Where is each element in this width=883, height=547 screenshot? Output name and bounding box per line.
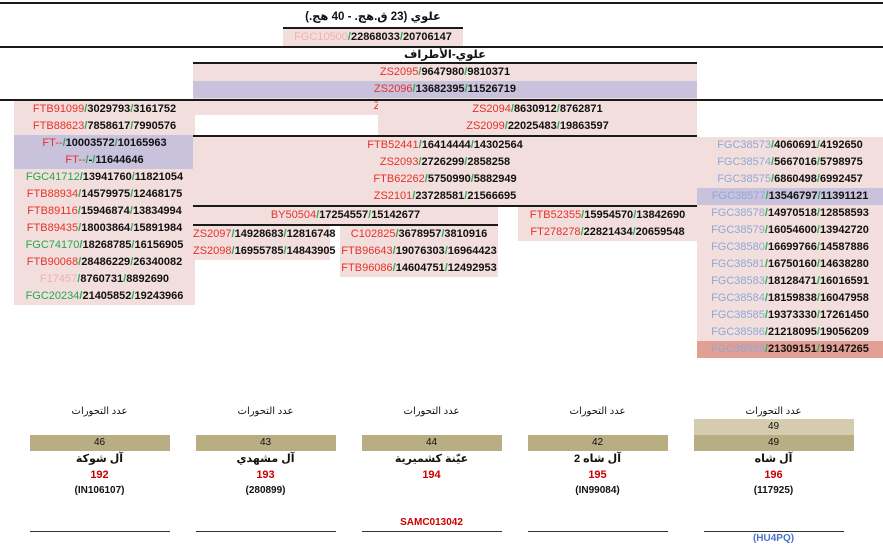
position-hg19: 21566695 — [467, 190, 516, 202]
snp-name: FGC20234 — [26, 290, 80, 302]
mutation-count-label: عدد التحورات — [690, 405, 857, 419]
snp-row: ZS2097/14928683/12816748 — [193, 226, 330, 243]
snp-name: FT278278 — [530, 226, 580, 238]
snp-row: FTB96643/19076303/16964423 — [340, 243, 498, 260]
snp-name: ZS2099 — [466, 120, 505, 132]
snp-row: FT278278/22821434/20659548 — [518, 224, 697, 241]
snp-name: FGC10500 — [294, 31, 348, 43]
position-hg38: 22821434 — [584, 226, 633, 238]
mutation-count-label: عدد التحورات — [16, 405, 183, 419]
leaf-bottom-rule — [704, 531, 844, 532]
snp-row: FGC38585/19373330/17261450 — [697, 307, 883, 324]
snp-name: ZS2094 — [472, 103, 511, 115]
root-header-label: علوي (23 ق.هج. - 40 هج.) — [283, 10, 463, 25]
snp-row: FGC38578/14970518/12858593 — [697, 205, 883, 222]
snp-name: FGC38585 — [711, 309, 765, 321]
snp-row: BY50504/17254557/15142677 — [193, 207, 498, 224]
snp-row: FGC38584/18159838/16047958 — [697, 290, 883, 307]
snp-row: F17457/8760731/8892690 — [14, 271, 195, 288]
snp-row: FGC38581/16750160/14638280 — [697, 256, 883, 273]
mutation-count-bars: 42 — [528, 435, 668, 451]
snp-row: FTB89435/18003864/15891984 — [14, 220, 195, 237]
leaf-spacer — [182, 499, 349, 515]
position-hg19: 10165963 — [118, 137, 167, 149]
snp-row: ZS2094/8630912/8762871 — [378, 101, 697, 118]
snp-name: FGC38575 — [717, 173, 771, 185]
snp-name: ZS2097 — [193, 228, 232, 240]
position-hg38: 8760731 — [80, 273, 123, 285]
snp-row: ZS2093/2726299/2858258 — [193, 154, 697, 171]
snp-name: FGC38584 — [711, 292, 765, 304]
position-hg19: 19147265 — [820, 343, 869, 355]
snp-name: ZS2093 — [380, 156, 419, 168]
mutation-count-bars: 44 — [362, 435, 502, 451]
position-hg38: 14970518 — [768, 207, 817, 219]
mutation-count-bar: 44 — [362, 435, 502, 451]
leaf-column[interactable]: عدد التحورات42آل شاه 2195(IN99084) — [514, 405, 681, 547]
position-hg38: 6860498 — [774, 173, 817, 185]
extra-sample-id — [514, 515, 681, 531]
position-hg38: 18159838 — [768, 292, 817, 304]
position-hg19: 11821054 — [135, 171, 183, 183]
position-hg19: 26340082 — [133, 256, 182, 268]
kit-id — [348, 483, 515, 499]
position-hg38: 18268785 — [82, 239, 131, 251]
position-hg19: 12468175 — [133, 188, 182, 200]
leaf-bottom-rule — [528, 531, 668, 532]
extra-kit-id — [348, 531, 515, 547]
mutation-count-bars: 46 — [30, 435, 170, 451]
snp-name: FTB88623 — [33, 120, 84, 132]
leaf-column[interactable]: عدد التحورات46آل شوكة192(IN106107) — [16, 405, 183, 547]
snp-name: FGC38586 — [711, 326, 765, 338]
position-hg19: 20706147 — [403, 31, 452, 43]
position-hg19: 14302564 — [474, 139, 523, 151]
mutation-count-bar: 49 — [694, 435, 854, 451]
position-hg19: 7990576 — [133, 120, 176, 132]
phylogenetic-tree-diagram: علوي (23 ق.هج. - 40 هج.) FGC10500/228680… — [0, 0, 883, 539]
snp-name: FTB90068 — [27, 256, 78, 268]
mutation-count-bars: 4949 — [694, 419, 854, 451]
position-hg38: 21309151 — [768, 343, 817, 355]
bar-spacer — [514, 419, 681, 435]
mid-upper-snp-list: ZS2094/8630912/8762871ZS2099/22025483/19… — [378, 101, 697, 135]
position-hg38: 18128471 — [768, 275, 817, 287]
kit-id: (IN99084) — [514, 483, 681, 499]
position-hg38: 19076303 — [396, 245, 445, 257]
bar-spacer — [348, 419, 515, 435]
snp-name: FGC38583 — [711, 275, 765, 287]
snp-row: ZS2095/9647980/9810371 — [193, 64, 697, 81]
extra-kit-id — [514, 531, 681, 547]
snp-row: FT--/10003572/10165963 — [14, 135, 195, 152]
position-hg19: 3161752 — [133, 103, 176, 115]
snp-row: ZS2096/13682395/11526719 — [193, 81, 697, 98]
family-name: عيّنة كشميرية — [348, 451, 515, 467]
position-hg38: 14604751 — [396, 262, 445, 274]
family-name: آل شاه — [690, 451, 857, 467]
sample-number: 192 — [16, 467, 183, 483]
mutation-count-bar: 46 — [30, 435, 170, 451]
bar-spacer — [182, 419, 349, 435]
mutation-count-bar: 42 — [528, 435, 668, 451]
snp-row: FGC10500/22868033/20706147 — [283, 29, 463, 46]
extra-kit-id — [182, 531, 349, 547]
snp-row: FTB91099/3029793/3161752 — [14, 101, 195, 118]
position-hg19: 17261450 — [820, 309, 869, 321]
position-hg19: 13942720 — [820, 224, 869, 236]
position-hg19: 15142677 — [371, 209, 420, 221]
position-hg19: 11644646 — [95, 154, 143, 166]
snp-name: FGC41712 — [26, 171, 80, 183]
snp-name: C102825 — [351, 228, 396, 240]
extra-sample-id — [16, 515, 183, 531]
position-hg38: 14928683 — [235, 228, 284, 240]
snp-name: FTB91099 — [33, 103, 84, 115]
snp-name: FTB96643 — [341, 245, 392, 257]
snp-name: FTB96086 — [341, 262, 392, 274]
position-hg38: 9647980 — [421, 66, 464, 78]
branch-header-label: علوي-الأطراف — [193, 48, 697, 62]
snp-row: FTB52355/15954570/13842690 — [518, 207, 697, 224]
position-hg19: 11391121 — [821, 190, 869, 202]
snp-name: FGC38589 — [711, 343, 765, 355]
leaf-spacer — [690, 499, 857, 515]
position-hg19: 20659548 — [636, 226, 685, 238]
extra-sample-id — [182, 515, 349, 531]
position-hg19: 5882949 — [474, 173, 517, 185]
snp-name: FGC38580 — [711, 241, 765, 253]
position-hg38: 18003864 — [81, 222, 130, 234]
position-hg19: 15891984 — [133, 222, 182, 234]
right-branch-snp-list: FGC38573/4060691/4192650FGC38574/5667016… — [697, 137, 883, 358]
snp-name: FTB52355 — [530, 209, 581, 221]
position-hg19: 16964423 — [448, 245, 497, 257]
snp-name: FGC38578 — [711, 207, 765, 219]
position-hg19: 16047958 — [820, 292, 869, 304]
bar-spacer — [16, 419, 183, 435]
mutation-count-label: عدد التحورات — [182, 405, 349, 419]
by50504-snp-list: BY50504/17254557/15142677 — [193, 207, 498, 224]
position-hg38: 14579975 — [81, 188, 130, 200]
snp-name: FTB89116 — [27, 205, 78, 217]
position-hg38: 5750990 — [428, 173, 471, 185]
sample-number: 196 — [690, 467, 857, 483]
snp-name: FGC38574 — [717, 156, 771, 168]
snp-row: FT--/-/11644646 — [14, 152, 195, 169]
kit-id: (IN106107) — [16, 483, 183, 499]
snp-row: FGC74170/18268785/16156905 — [14, 237, 195, 254]
mid-right-sub-snp-list: C102825/3678957/3810916FTB96643/19076303… — [340, 226, 498, 277]
position-hg38: 21405852 — [82, 290, 131, 302]
mutation-count-label: عدد التحورات — [514, 405, 681, 419]
snp-row: FGC38579/16054600/13942720 — [697, 222, 883, 239]
position-hg19: 9810371 — [467, 66, 510, 78]
snp-name: FGC74170 — [26, 239, 80, 251]
snp-row: FGC38573/4060691/4192650 — [697, 137, 883, 154]
leaf-spacer — [16, 499, 183, 515]
position-hg38: 5667016 — [774, 156, 817, 168]
leaf-column[interactable]: عدد التحورات43آل مشهدي193(280899) — [182, 405, 349, 547]
snp-row: FGC38586/21218095/19056209 — [697, 324, 883, 341]
snp-name: FGC38573 — [717, 139, 771, 151]
position-hg19: 19863597 — [560, 120, 609, 132]
snp-name: FTB89435 — [27, 222, 78, 234]
leaf-column[interactable]: عدد التحورات4949آل شاه196(117925)(HU4PQ) — [690, 405, 857, 547]
snp-row: FGC38574/5667016/5798975 — [697, 154, 883, 171]
snp-row: FTB52441/16414444/14302564 — [193, 137, 697, 154]
snp-row: FGC38577/13546797/11391121 — [697, 188, 883, 205]
position-hg38: 19373330 — [768, 309, 817, 321]
position-hg38: 22868033 — [351, 31, 400, 43]
snp-row: FTB89116/15946874/13834994 — [14, 203, 195, 220]
position-hg38: 13546797 — [769, 190, 818, 202]
position-hg19: 4192650 — [820, 139, 863, 151]
position-hg19: 19243966 — [134, 290, 183, 302]
extra-sample-id: SAMC013042 — [348, 515, 515, 531]
snp-row: FGC38583/18128471/16016591 — [697, 273, 883, 290]
position-hg38: 2726299 — [421, 156, 464, 168]
snp-row: FTB90068/28486229/26340082 — [14, 254, 195, 271]
position-hg38: 21218095 — [768, 326, 817, 338]
top-rule — [0, 2, 883, 4]
mutation-count-label: عدد التحورات — [348, 405, 515, 419]
position-hg38: 3029793 — [87, 103, 130, 115]
position-hg38: 23728581 — [415, 190, 464, 202]
left-branch-snp-list: FTB91099/3029793/3161752FTB88623/7858617… — [14, 101, 195, 305]
position-hg38: 7858617 — [87, 120, 130, 132]
leaf-spacer — [514, 499, 681, 515]
position-hg38: 17254557 — [319, 209, 368, 221]
snp-row: FGC38580/16699766/14587886 — [697, 239, 883, 256]
position-hg19: 16016591 — [820, 275, 869, 287]
position-hg19: 16156905 — [134, 239, 183, 251]
snp-name: FGC38581 — [711, 258, 765, 270]
snp-row: FGC20234/21405852/19243966 — [14, 288, 195, 305]
position-hg38: 10003572 — [66, 137, 115, 149]
mid-main-snp-list: FTB52441/16414444/14302564ZS2093/2726299… — [193, 137, 697, 205]
position-hg19: 8762871 — [560, 103, 603, 115]
kit-id: (117925) — [690, 483, 857, 499]
snp-name: FGC38579 — [711, 224, 765, 236]
snp-name: ZS2096 — [374, 83, 413, 95]
snp-row: FTB88623/7858617/7990576 — [14, 118, 195, 135]
snp-name: FTB62262 — [373, 173, 424, 185]
leaf-bottom-rule — [30, 531, 170, 532]
position-hg19: 8892690 — [126, 273, 169, 285]
position-hg38: 15946874 — [81, 205, 130, 217]
far-mid-snp-list: FTB52355/15954570/13842690FT278278/22821… — [518, 207, 697, 241]
position-hg38: 22025483 — [508, 120, 557, 132]
position-hg19: 14843905 — [287, 245, 336, 257]
extra-kit-id — [16, 531, 183, 547]
position-hg38: 13941760 — [83, 171, 132, 183]
snp-name: ZS2095 — [380, 66, 419, 78]
leaf-bottom-rule — [362, 531, 502, 532]
sample-number: 193 — [182, 467, 349, 483]
position-hg19: 14587886 — [820, 241, 869, 253]
position-hg19: 13842690 — [636, 209, 685, 221]
position-hg38: 16750160 — [768, 258, 817, 270]
sample-number: 195 — [514, 467, 681, 483]
leaf-spacer — [348, 499, 515, 515]
position-hg38: 15954570 — [584, 209, 633, 221]
position-hg19: 11526719 — [468, 83, 516, 95]
snp-name: FTB52441 — [367, 139, 418, 151]
extra-sample-id — [690, 515, 857, 531]
family-name: آل مشهدي — [182, 451, 349, 467]
snp-row: FGC38589/21309151/19147265 — [697, 341, 883, 358]
extra-kit-id: (HU4PQ) — [690, 531, 857, 547]
sample-number: 194 — [348, 467, 515, 483]
snp-row: FGC38575/6860498/6992457 — [697, 171, 883, 188]
mutation-count-bar: 43 — [196, 435, 336, 451]
snp-name: ZS2101 — [374, 190, 413, 202]
position-hg19: 5798975 — [820, 156, 863, 168]
leaf-bottom-rule — [196, 531, 336, 532]
position-hg38: 3678957 — [399, 228, 442, 240]
position-hg19: 14638280 — [820, 258, 869, 270]
root-haplogroup-block: FGC10500/22868033/20706147 — [283, 29, 463, 46]
position-hg19: 13834994 — [133, 205, 182, 217]
position-hg19: 3810916 — [444, 228, 487, 240]
snp-name: ZS2098 — [193, 245, 232, 257]
snp-row: ZS2101/23728581/21566695 — [193, 188, 697, 205]
family-name: آل شوكة — [16, 451, 183, 467]
mid-left-sub-snp-list: ZS2097/14928683/12816748ZS2098/16955785/… — [193, 226, 330, 260]
mutation-count-bar: 49 — [694, 419, 854, 435]
kit-id: (280899) — [182, 483, 349, 499]
position-hg38: 16955785 — [235, 245, 284, 257]
snp-row: ZS2099/22025483/19863597 — [378, 118, 697, 135]
snp-row: ZS2098/16955785/14843905 — [193, 243, 330, 260]
position-hg38: 8630912 — [514, 103, 557, 115]
snp-row: FTB62262/5750990/5882949 — [193, 171, 697, 188]
snp-row: FGC41712/13941760/11821054 — [14, 169, 195, 186]
position-hg38: 16054600 — [768, 224, 817, 236]
snp-name: F17457 — [40, 273, 77, 285]
position-hg38: 16414444 — [422, 139, 471, 151]
snp-name: FGC38577 — [712, 190, 766, 202]
snp-name: FT-- — [65, 154, 85, 166]
position-hg38: 28486229 — [81, 256, 130, 268]
position-hg19: 19056209 — [820, 326, 869, 338]
snp-row: C102825/3678957/3810916 — [340, 226, 498, 243]
mutation-count-bars: 43 — [196, 435, 336, 451]
position-hg19: 6992457 — [820, 173, 863, 185]
position-hg19: 2858258 — [467, 156, 510, 168]
family-name: آل شاه 2 — [514, 451, 681, 467]
snp-row: FTB96086/14604751/12492953 — [340, 260, 498, 277]
position-hg19: 12858593 — [820, 207, 869, 219]
snp-name: BY50504 — [271, 209, 316, 221]
position-hg38: 13682395 — [416, 83, 465, 95]
position-hg38: 16699766 — [768, 241, 817, 253]
snp-name: FT-- — [42, 137, 62, 149]
position-hg19: 12492953 — [448, 262, 497, 274]
snp-row: FTB88934/14579975/12468175 — [14, 186, 195, 203]
position-hg19: 12816748 — [287, 228, 336, 240]
position-hg38: 4060691 — [774, 139, 817, 151]
snp-name: FTB88934 — [27, 188, 78, 200]
leaf-column[interactable]: عدد التحورات44عيّنة كشميرية194SAMC013042 — [348, 405, 515, 547]
